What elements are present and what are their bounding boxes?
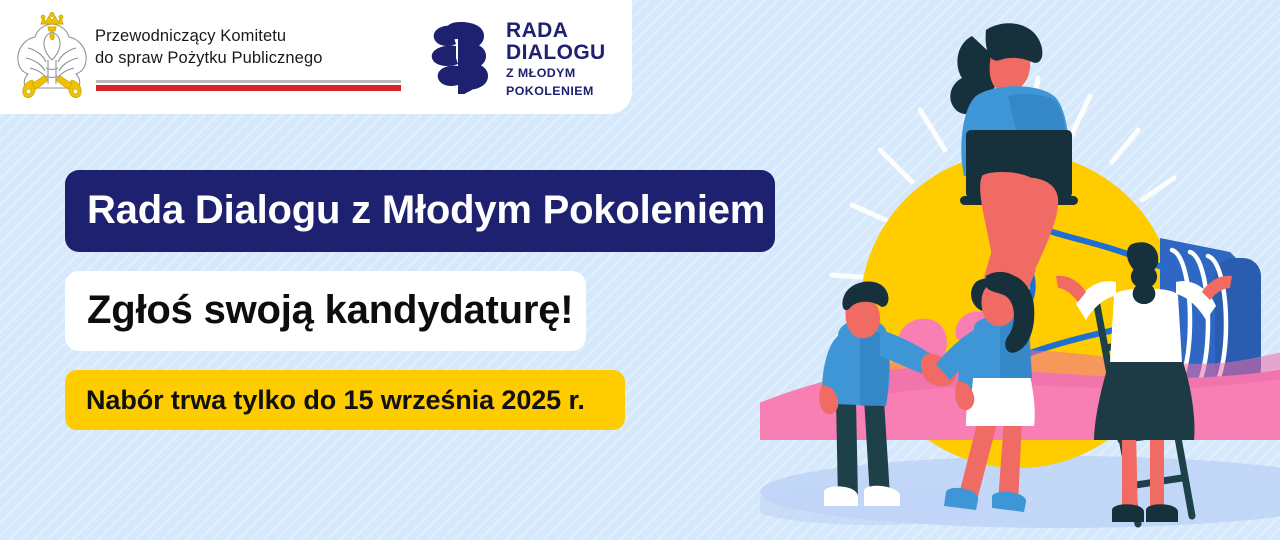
ministry-line-1: Przewodniczący Komitetu xyxy=(95,26,405,48)
header-plate: Przewodniczący Komitetu do spraw Pożytku… xyxy=(0,0,632,114)
banner-root: Przewodniczący Komitetu do spraw Pożytku… xyxy=(0,0,1280,540)
ministry-line-2: do spraw Pożytku Publicznego xyxy=(95,48,405,70)
ministry-title: Przewodniczący Komitetu do spraw Pożytku… xyxy=(95,26,405,70)
headline-title: Rada Dialogu z Młodym Pokoleniem xyxy=(65,170,775,252)
rada-dialogu-wordmark: RADA DIALOGU Z MŁODYM POKOLENIEM xyxy=(506,20,606,100)
logo-line-dialogu: DIALOGU xyxy=(506,42,606,64)
red-rule xyxy=(96,85,401,91)
rada-dialogu-speech-bubble-plant-mark-icon xyxy=(424,20,498,96)
deadline-badge: Nabór trwa tylko do 15 września 2025 r. xyxy=(65,370,625,430)
illustration-lightbulb-scene xyxy=(760,0,1280,540)
logo-line-pokoleniem: POKOLENIEM xyxy=(506,84,606,99)
polish-eagle-emblem-icon xyxy=(12,8,92,104)
logo-line-zmlodym: Z MŁODYM xyxy=(506,66,606,81)
call-to-action-text: Zgłoś swoją kandydaturę! xyxy=(65,271,586,351)
rada-dialogu-logo: RADA DIALOGU Z MŁODYM POKOLENIEM xyxy=(424,18,614,98)
polish-flag-rules xyxy=(96,80,401,91)
copy-stack: Rada Dialogu z Młodym Pokoleniem Zgłoś s… xyxy=(65,170,775,430)
logo-line-rada: RADA xyxy=(506,20,606,42)
